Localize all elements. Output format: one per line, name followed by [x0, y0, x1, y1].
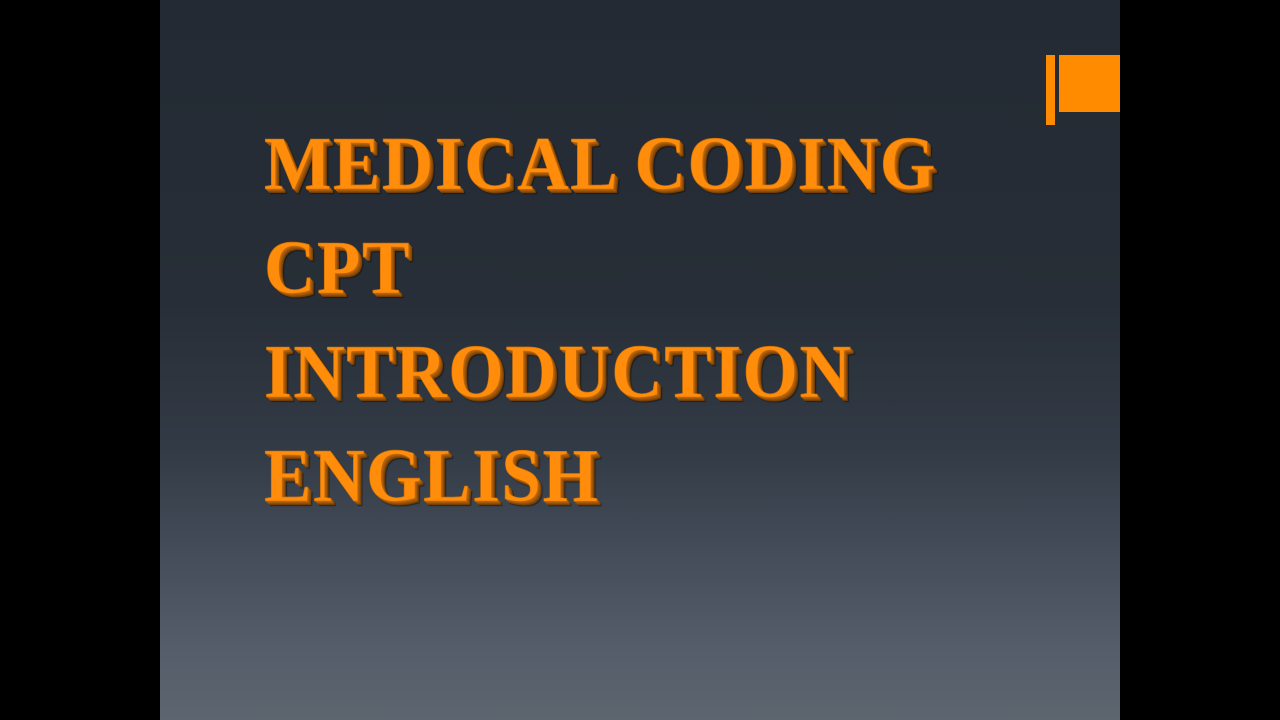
letterbox-left	[0, 0, 160, 720]
title-line-4: ENGLISH	[264, 424, 1035, 528]
title-line-3: INTRODUCTION	[264, 320, 1035, 424]
title-line-2: CPT	[264, 216, 1035, 320]
letterbox-right	[1120, 0, 1280, 720]
title-line-1: MEDICAL CODING	[264, 112, 1035, 216]
slide-canvas: MEDICAL CODING CPT INTRODUCTION ENGLISH	[160, 0, 1120, 720]
accent-square-shape	[1059, 55, 1120, 112]
screen: MEDICAL CODING CPT INTRODUCTION ENGLISH	[0, 0, 1280, 720]
slide-title-block: MEDICAL CODING CPT INTRODUCTION ENGLISH	[264, 112, 1084, 528]
